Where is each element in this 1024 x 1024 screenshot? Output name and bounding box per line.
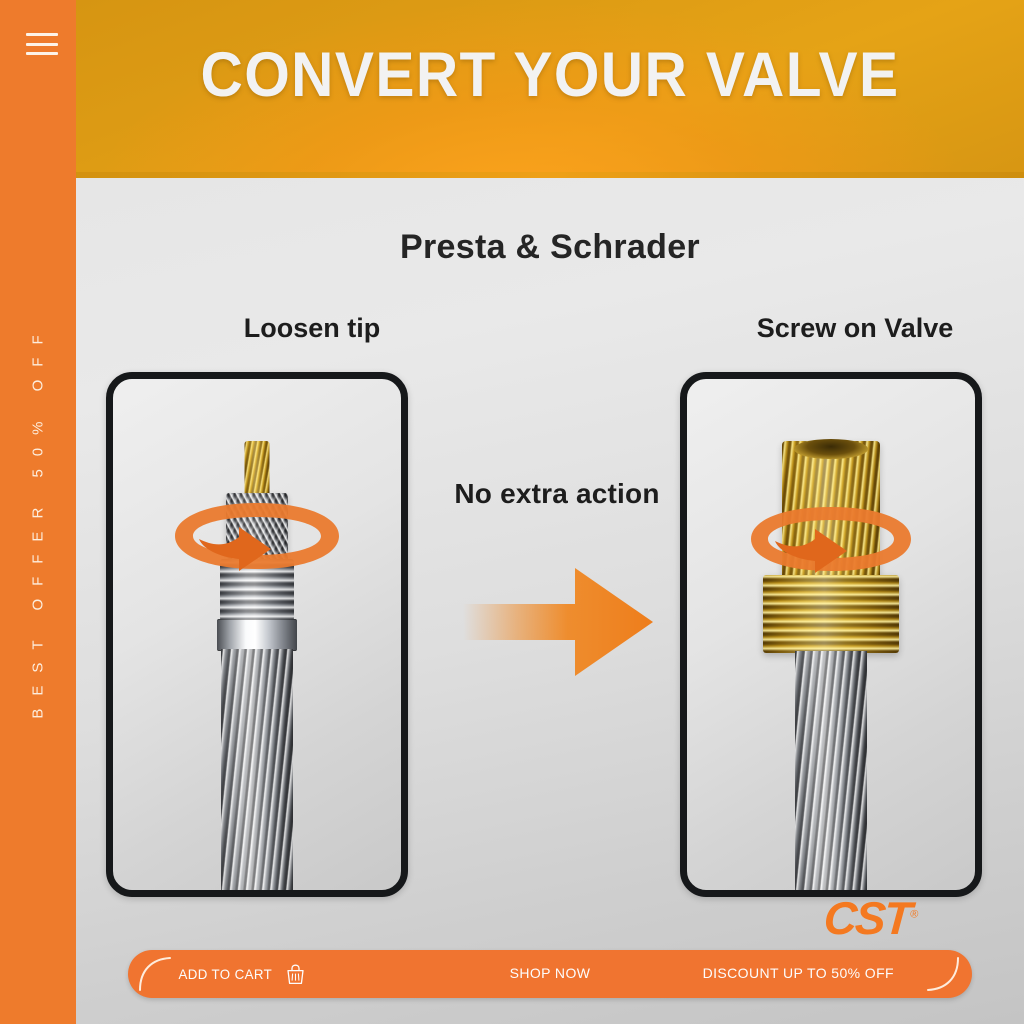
presta-brass-tip bbox=[245, 441, 270, 499]
discount-label: DISCOUNT UP TO 50% OFF bbox=[703, 965, 894, 981]
shop-now-label: SHOP NOW bbox=[510, 965, 591, 981]
schrader-bore-opening bbox=[794, 439, 868, 459]
section-heading: Presta & Schrader bbox=[76, 228, 1024, 267]
schrader-knurled-collar bbox=[763, 575, 899, 653]
promo-rail: BEST OFFER 50% OFF bbox=[0, 0, 76, 1024]
presta-threaded-stem bbox=[221, 649, 293, 897]
photo-panel-loosen-tip[interactable] bbox=[106, 372, 408, 897]
cst-logo-text: CST bbox=[822, 892, 912, 944]
cst-brand-logo: CST® bbox=[822, 891, 920, 945]
discount-notice[interactable]: DISCOUNT UP TO 50% OFF bbox=[703, 965, 894, 983]
right-arrow-icon bbox=[432, 566, 682, 683]
promo-rail-text-wrapper: BEST OFFER 50% OFF bbox=[0, 120, 76, 920]
presta-ferrule bbox=[217, 619, 297, 651]
page-title: CONVERT YOUR VALVE bbox=[109, 44, 991, 107]
panel-caption-screw-on-valve: Screw on Valve bbox=[700, 313, 1010, 344]
menu-line bbox=[26, 43, 58, 46]
registered-trademark-mark: ® bbox=[910, 909, 919, 921]
header-banner: CONVERT YOUR VALVE bbox=[76, 0, 1024, 178]
hamburger-menu-icon[interactable] bbox=[26, 33, 58, 55]
photo-panel-screw-on-valve[interactable] bbox=[680, 372, 982, 897]
menu-line bbox=[26, 33, 58, 36]
callout-text: No extra action bbox=[432, 478, 682, 510]
promo-rail-label: BEST OFFER 50% OFF bbox=[30, 322, 47, 718]
bottom-action-bar: ADD TO CART SHOP NOW DISCOUNT UP TO 50% … bbox=[128, 950, 972, 998]
rotation-arrow-clockwise-icon bbox=[167, 497, 347, 575]
main-content-area: Presta & Schrader Loosen tip Screw on Va… bbox=[76, 178, 1024, 1024]
menu-line bbox=[26, 52, 58, 55]
rotation-arrow-counterclockwise-icon bbox=[743, 501, 919, 577]
panel-caption-loosen-tip: Loosen tip bbox=[182, 313, 442, 344]
schrader-threaded-stem bbox=[795, 651, 867, 897]
middle-callout: No extra action bbox=[432, 478, 682, 683]
